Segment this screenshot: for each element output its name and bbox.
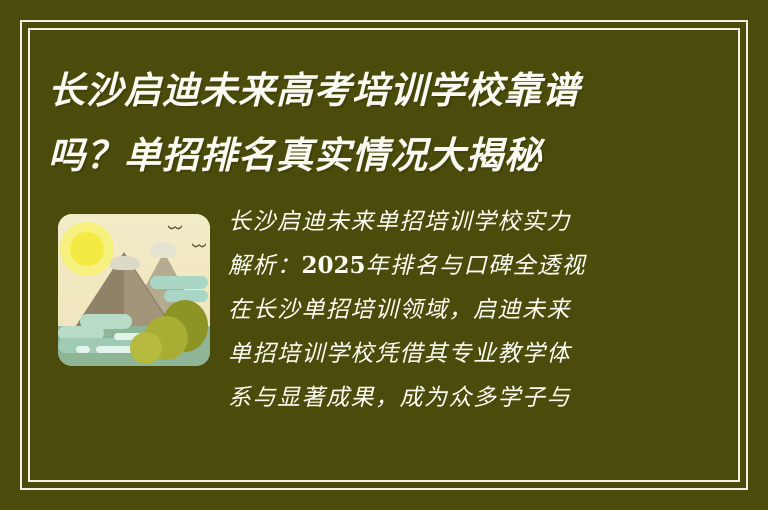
body-text-segment: 单招培训学校凭借其专业教学体 (228, 341, 571, 367)
title-line-2: 吗？单招排名真实情况大揭秘 (48, 123, 648, 188)
body-text-segment: 系与显著成果，成为众多学子与 (228, 385, 571, 411)
sun-core-icon (70, 232, 104, 266)
body-text-segment: 长沙启迪未来单招培训学校实力 (228, 209, 571, 235)
body-text-segment: 解析： (228, 253, 302, 279)
body-text-segment: 在长沙单招培训领域，启迪未来 (228, 297, 571, 323)
article-body: 长沙启迪未来单招培训学校实力 解析：2025年排名与口碑全透视 在长沙单招培训领… (228, 200, 724, 420)
page-title: 长沙启迪未来高考培训学校靠谱 吗？单招排名真实情况大揭秘 (48, 58, 648, 188)
body-line: 单招培训学校凭借其专业教学体 (228, 332, 724, 376)
bird-icon (168, 224, 182, 231)
body-line: 在长沙单招培训领域，启迪未来 (228, 288, 724, 332)
water-streak (76, 346, 90, 353)
poster-canvas: 长沙启迪未来高考培训学校靠谱 吗？单招排名真实情况大揭秘 (0, 0, 768, 510)
content-row: 长沙启迪未来单招培训学校实力 解析：2025年排名与口碑全透视 在长沙单招培训领… (50, 200, 724, 420)
title-line-1: 长沙启迪未来高考培训学校靠谱 (48, 58, 648, 123)
mountain-front-snowcap-icon (110, 256, 140, 270)
body-text-segment: 年排名与口碑全透视 (366, 253, 587, 279)
illustration-card (58, 214, 210, 366)
body-line: 系与显著成果，成为众多学子与 (228, 376, 724, 420)
landscape-illustration (50, 208, 218, 378)
bird-icon (192, 242, 206, 249)
body-line: 长沙启迪未来单招培训学校实力 (228, 200, 724, 244)
body-line: 解析：2025年排名与口碑全透视 (228, 244, 724, 288)
bush-icon (130, 332, 162, 364)
cloud-icon (150, 276, 208, 289)
body-number-segment: 2025 (302, 252, 366, 279)
